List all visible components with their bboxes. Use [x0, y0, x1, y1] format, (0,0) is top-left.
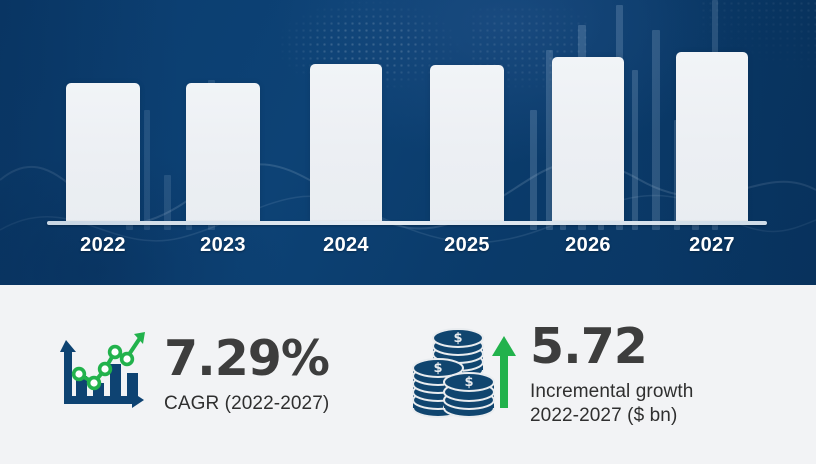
incremental-growth-value: 5.72 [530, 322, 693, 371]
stat-block-cagr: 7.29% CAGR (2022-2027) [46, 285, 329, 464]
incremental-growth-label-line1: Incremental growth [530, 381, 693, 402]
growth-chart-icon [46, 326, 150, 423]
x-tick-label-2024: 2024 [299, 234, 393, 257]
stat-text-incremental-growth: 5.72 Incremental growth 2022-2027 ($ bn) [530, 322, 693, 426]
bar-2026 [552, 57, 624, 221]
bar-2022 [66, 83, 140, 221]
stat-text-cagr: 7.29% CAGR (2022-2027) [164, 334, 329, 415]
svg-text:$: $ [433, 361, 442, 376]
x-tick-label-2027: 2027 [665, 234, 759, 257]
bar-2024 [310, 64, 382, 221]
bar-2027 [676, 52, 748, 221]
x-axis-baseline [47, 221, 767, 225]
x-tick-label-2022: 2022 [56, 234, 150, 257]
stats-footer: 7.29% CAGR (2022-2027) [0, 285, 816, 464]
bar-2023 [186, 83, 260, 221]
cagr-label-line1: CAGR (2022-2027) [164, 393, 329, 414]
bar-chart-panel: 2022 2023 2024 2025 2026 2027 [0, 0, 816, 285]
stat-block-incremental-growth: $ $ $ 5.72 Incremental growth 2022-2027 … [412, 285, 693, 464]
incremental-growth-label: Incremental growth 2022-2027 ($ bn) [530, 380, 693, 426]
svg-text:$: $ [464, 375, 473, 390]
bar-2025 [430, 65, 504, 221]
cagr-label: CAGR (2022-2027) [164, 392, 329, 415]
x-tick-label-2025: 2025 [420, 234, 514, 257]
cagr-value: 7.29% [164, 334, 329, 383]
coins-stack-icon: $ $ $ [412, 324, 516, 425]
infographic-root: 2022 2023 2024 2025 2026 2027 [0, 0, 816, 464]
svg-text:$: $ [453, 331, 462, 346]
x-tick-label-2026: 2026 [541, 234, 635, 257]
incremental-growth-label-line2: 2022-2027 ($ bn) [530, 405, 677, 426]
x-tick-label-2023: 2023 [176, 234, 270, 257]
